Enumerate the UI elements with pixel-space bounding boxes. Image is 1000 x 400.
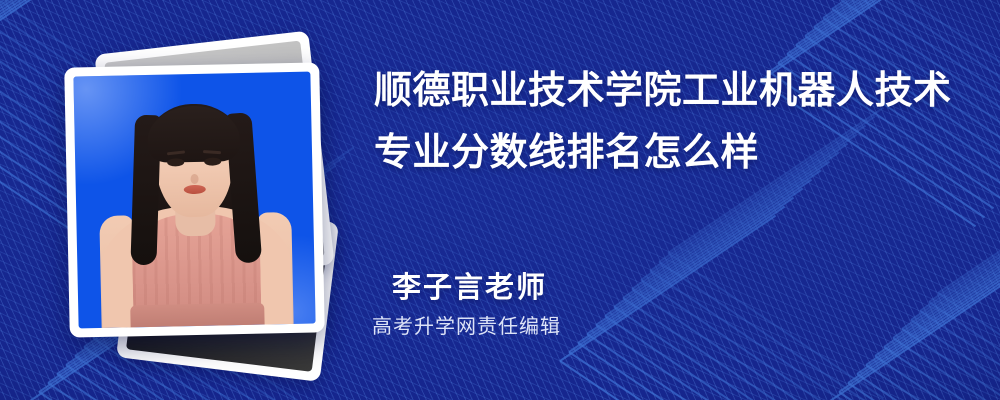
portrait-nose: [190, 173, 198, 183]
author-name: 李子言老师: [392, 268, 561, 308]
portrait-illustration: [73, 72, 315, 329]
page-title: 顺德职业技术学院工业机器人技术 专业分数线排名怎么样: [374, 60, 974, 184]
article-header-banner: 顺德职业技术学院工业机器人技术 专业分数线排名怎么样 李子言老师 高考升学网责任…: [0, 0, 1000, 400]
avatar: [73, 72, 315, 329]
portrait-lips: [183, 185, 205, 194]
author-photo-stack: [55, 40, 355, 360]
portrait-dress-waist: [130, 303, 264, 328]
page-title-line-1: 顺德职业技术学院工业机器人技术: [374, 60, 974, 122]
author-byline: 李子言老师 高考升学网责任编辑: [392, 268, 561, 344]
photo-card-front: [64, 62, 325, 337]
page-title-line-2: 专业分数线排名怎么样: [374, 122, 974, 184]
author-role: 高考升学网责任编辑: [372, 310, 561, 344]
chevron-cluster-bottom-right-icon: [830, 250, 1000, 400]
